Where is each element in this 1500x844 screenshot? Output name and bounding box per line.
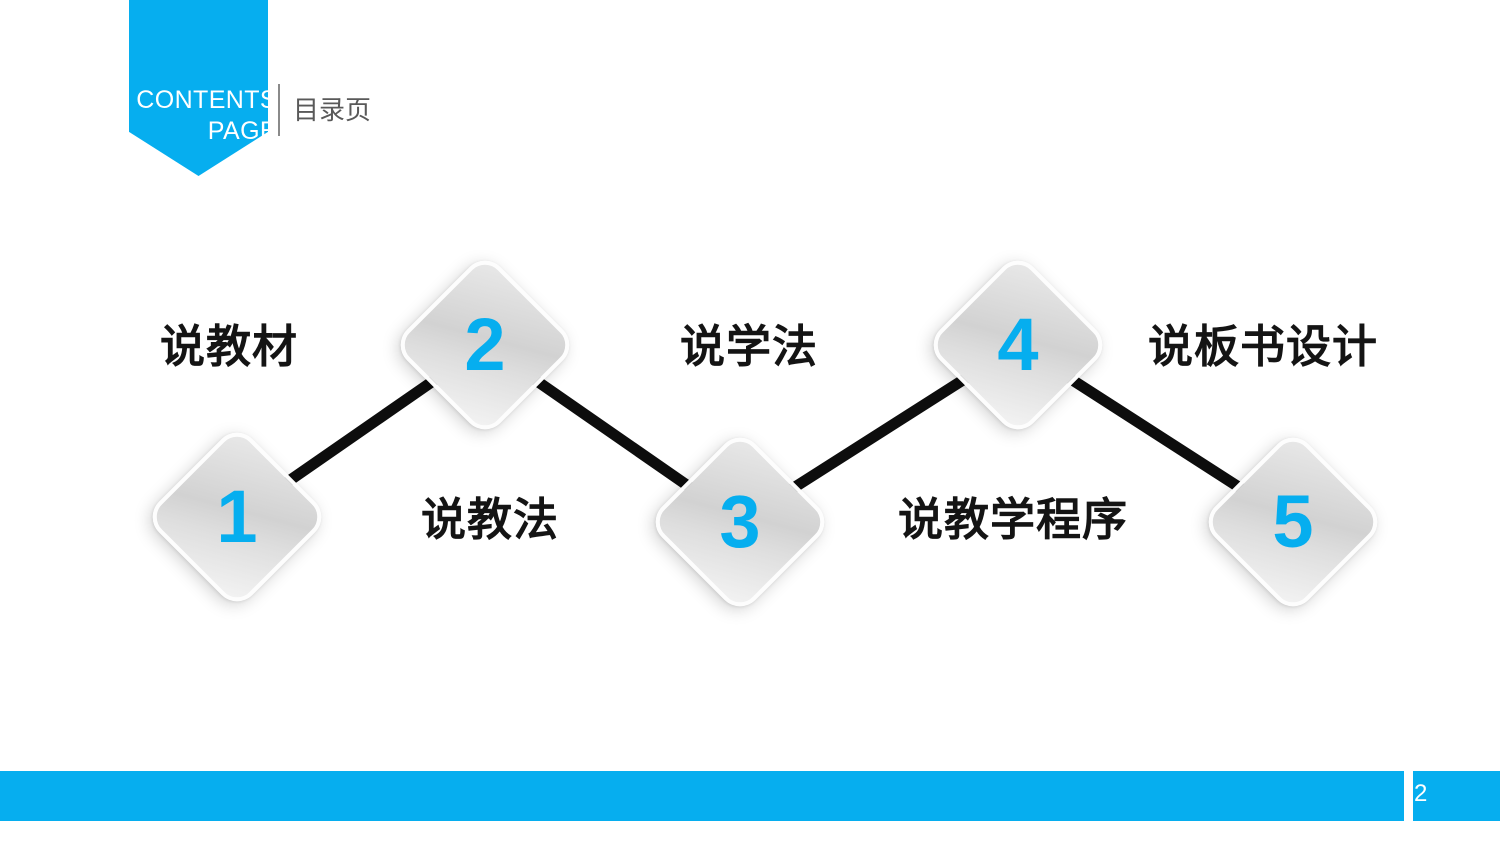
step-label-2: 说教法 bbox=[421, 495, 559, 545]
step-number-3: 3 bbox=[674, 456, 806, 588]
step-node-2[interactable]: 2 bbox=[419, 279, 551, 411]
step-label-4: 说教学程序 bbox=[898, 495, 1128, 545]
footer-bar bbox=[0, 771, 1500, 821]
step-number-1: 1 bbox=[171, 451, 303, 583]
header-divider bbox=[278, 84, 280, 136]
contents-banner-text: CONTENTS PAGE bbox=[120, 85, 277, 147]
step-node-4[interactable]: 4 bbox=[952, 279, 1084, 411]
slide-canvas: CONTENTS PAGE 目录页 1 2 3 4 5 说教材 说教法 说学法 … bbox=[0, 0, 1500, 844]
step-label-5: 说板书设计 bbox=[1148, 322, 1378, 372]
step-number-2: 2 bbox=[419, 279, 551, 411]
page-title: 目录页 bbox=[293, 89, 371, 131]
step-node-5[interactable]: 5 bbox=[1227, 456, 1359, 588]
step-label-3: 说学法 bbox=[680, 322, 818, 372]
step-number-5: 5 bbox=[1227, 456, 1359, 588]
banner-line-2: PAGE bbox=[120, 116, 277, 147]
step-node-1[interactable]: 1 bbox=[171, 451, 303, 583]
banner-line-1: CONTENTS bbox=[136, 86, 277, 114]
step-number-4: 4 bbox=[952, 279, 1084, 411]
footer-bar-gap bbox=[1404, 771, 1413, 821]
step-label-1: 说教材 bbox=[160, 322, 298, 372]
page-number: 2 bbox=[1414, 780, 1454, 808]
step-node-3[interactable]: 3 bbox=[674, 456, 806, 588]
